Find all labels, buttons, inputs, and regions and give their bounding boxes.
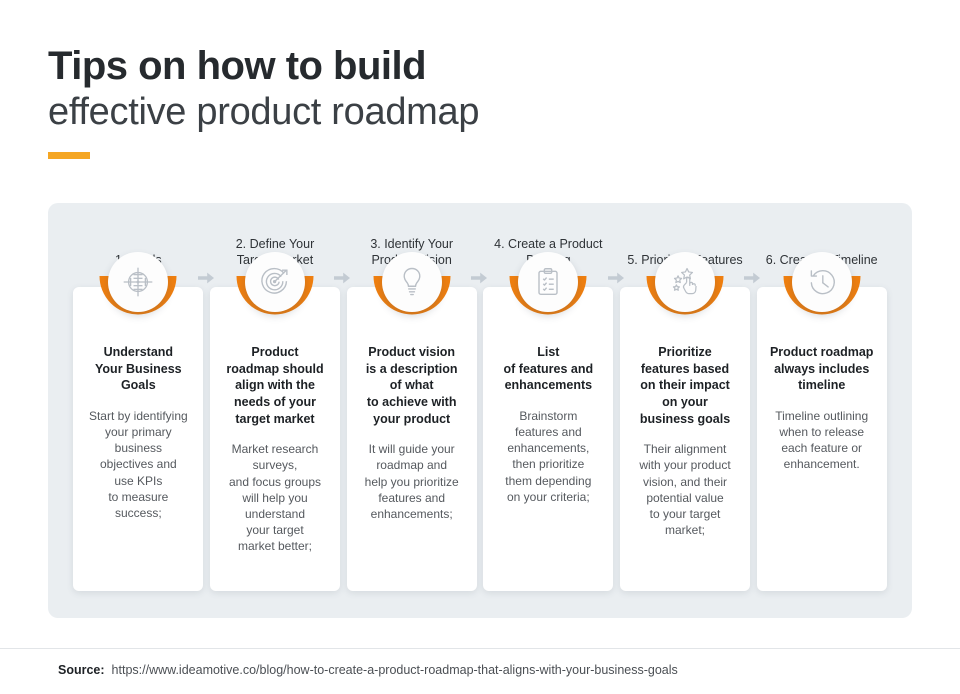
lightbulb-icon [382, 252, 442, 312]
step-3-card: Product vision is a description of what … [347, 287, 477, 591]
dartboard-icon [245, 252, 305, 312]
title-accent-bar [48, 152, 90, 159]
step-4-card: List of features and enhancements Brains… [483, 287, 613, 591]
step-1-card: Understand Your Business Goals Start by … [73, 287, 203, 591]
stars-hand-click-icon [655, 252, 715, 312]
source-url[interactable]: https://www.ideamotive.co/blog/how-to-cr… [112, 663, 678, 677]
step-2-medallion [236, 248, 314, 326]
arrow-right-icon [469, 269, 489, 287]
step-4: 4. Create a Product Backlog [480, 203, 617, 618]
step-1-medallion [99, 248, 177, 326]
step-2-heading: Product roadmap should align with the ne… [217, 344, 333, 427]
step-2: 2. Define Your Target Market [207, 203, 344, 618]
step-5-medallion [646, 248, 724, 326]
step-1-body: Start by identifying your primary busine… [80, 408, 196, 521]
arrow-right-icon [196, 269, 216, 287]
crosshair-target-icon [108, 252, 168, 312]
step-6-card: Product roadmap always includes timeline… [757, 287, 887, 591]
step-5-heading: Prioritize features based on their impac… [627, 344, 743, 427]
clipboard-checklist-icon [518, 252, 578, 312]
step-5: 5. Prioritize Features [617, 203, 754, 618]
step-6-body: Timeline outlining when to release each … [764, 408, 880, 473]
source-footer: Source: https://www.ideamotive.co/blog/h… [58, 663, 678, 677]
step-5-body: Their alignment with your product vision… [627, 441, 743, 538]
clock-arrow-icon [792, 252, 852, 312]
step-1-heading: Understand Your Business Goals [80, 344, 196, 394]
step-3-body: It will guide your roadmap and help you … [354, 441, 470, 522]
step-6-medallion [783, 248, 861, 326]
step-2-body: Market research surveys, and focus group… [217, 441, 333, 554]
step-5-card: Prioritize features based on their impac… [620, 287, 750, 591]
step-3: 3. Identify Your Product Vision [343, 203, 480, 618]
step-3-medallion [373, 248, 451, 326]
step-6: 6. Create a Timeline [753, 203, 890, 618]
step-2-card: Product roadmap should align with the ne… [210, 287, 340, 591]
page-title-line2: effective product roadmap [48, 89, 748, 137]
source-label: Source: [58, 663, 105, 677]
footer-divider [0, 648, 960, 649]
steps-row: 1. Goals [48, 203, 912, 618]
step-4-body: Brainstorm features and enhancements, th… [490, 408, 606, 505]
roadmap-panel: 1. Goals [48, 203, 912, 618]
step-1: 1. Goals [70, 203, 207, 618]
arrow-right-icon [606, 269, 626, 287]
arrow-right-icon [332, 269, 352, 287]
arrow-right-icon [742, 269, 762, 287]
page-header: Tips on how to build effective product r… [48, 44, 748, 159]
step-6-heading: Product roadmap always includes timeline [764, 344, 880, 394]
step-3-heading: Product vision is a description of what … [354, 344, 470, 427]
page-title-line1: Tips on how to build [48, 44, 748, 89]
step-4-medallion [509, 248, 587, 326]
step-4-heading: List of features and enhancements [490, 344, 606, 394]
